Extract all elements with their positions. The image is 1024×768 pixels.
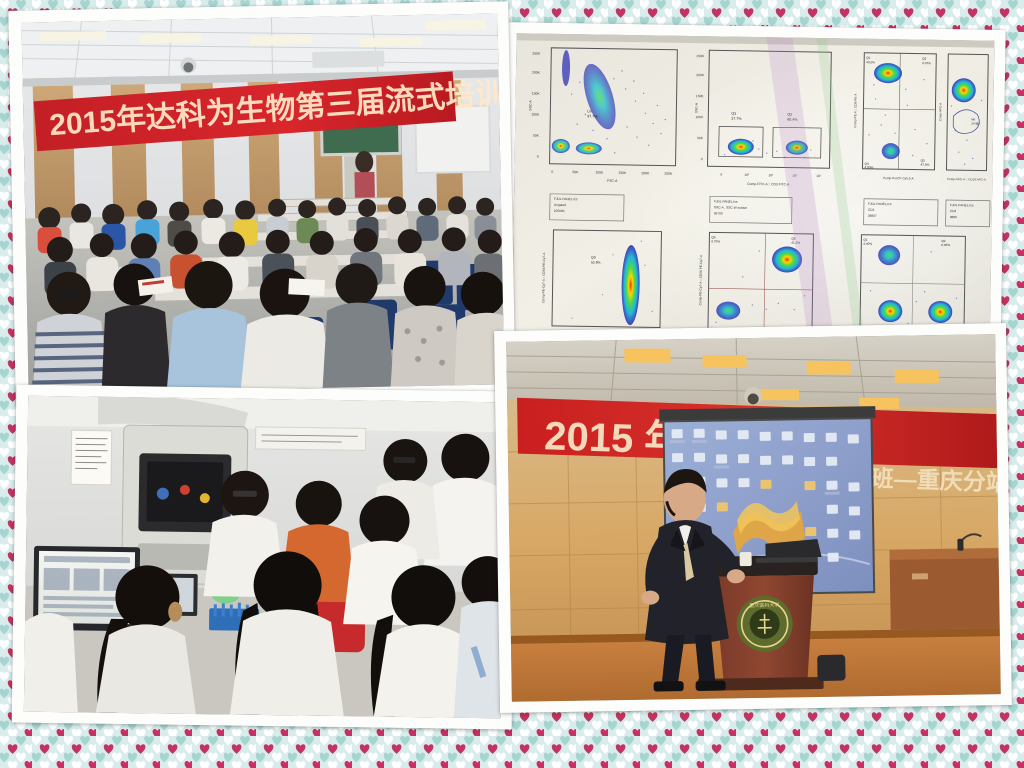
svg-text:50K: 50K [533, 134, 540, 138]
svg-text:150K: 150K [696, 94, 705, 98]
svg-text:0: 0 [720, 172, 722, 176]
photo-lecture-hall[interactable]: 2015 年达科为 班—重庆分站 [494, 323, 1012, 713]
lecture-banner-text-right: 班—重庆分站 [870, 465, 1000, 496]
svg-text:4.40%: 4.40% [863, 242, 872, 246]
svg-text:Comp-APC-A: Comp-APC-A [938, 103, 942, 121]
svg-text:150K: 150K [532, 92, 541, 96]
svg-text:47.0%: 47.0% [921, 163, 930, 167]
svg-text:SSC-A: SSC-A [694, 102, 698, 113]
svg-text:150K: 150K [618, 171, 627, 175]
svg-text:FJDL PANEL.fcs: FJDL PANEL.fcs [714, 199, 738, 203]
svg-text:Lin: Lin [587, 109, 592, 113]
svg-text:100K: 100K [696, 115, 705, 119]
svg-text:200K: 200K [641, 171, 650, 175]
photo-classroom-image: 2015年达科为生物第三届流式培训班——上海分站 [21, 13, 504, 393]
svg-text:FJDL PANEL.fcs: FJDL PANEL.fcs [868, 202, 892, 206]
photo-lecture-hall-image: 2015 年达科为 班—重庆分站 [506, 334, 1001, 702]
svg-text:50K: 50K [697, 136, 704, 140]
svg-text:Comp-PE-A :: CD8 PE-A: Comp-PE-A :: CD8 PE-A [853, 93, 858, 128]
photo-flow-cytometry-image: 0 50K 100K 150K 200K 250K 050K100K 150K2… [511, 33, 994, 365]
svg-text:FJDL PANEL.fcs: FJDL PANEL.fcs [554, 197, 578, 201]
svg-text:FJDL PANEL.fcs: FJDL PANEL.fcs [950, 203, 974, 207]
svg-text:Q1: Q1 [866, 56, 870, 60]
svg-text:Comp-FITC-A :: CD3 FITC-A: Comp-FITC-A :: CD3 FITC-A [747, 182, 790, 187]
svg-text:SSC-A , SSC-W subset: SSC-A , SSC-W subset [714, 205, 747, 210]
svg-text:0.05%: 0.05% [941, 243, 950, 247]
svg-text:SSC-A: SSC-A [528, 100, 532, 111]
svg-text:4.00%: 4.00% [864, 165, 873, 169]
svg-text:50K: 50K [572, 170, 579, 174]
photo-lab-session[interactable] [12, 385, 517, 730]
svg-text:52.8%: 52.8% [591, 260, 601, 264]
svg-text:0: 0 [551, 170, 553, 174]
svg-text:Q2: Q2 [922, 57, 926, 61]
svg-text:100K: 100K [531, 113, 540, 117]
svg-text:14.9%: 14.9% [971, 121, 980, 125]
svg-text:Ungated: Ungated [554, 203, 566, 207]
svg-text:0.07%: 0.07% [922, 61, 931, 65]
svg-text:100000: 100000 [554, 209, 565, 213]
svg-text:43.0%: 43.0% [866, 60, 875, 64]
svg-text:9880: 9880 [950, 215, 957, 219]
svg-text:250K: 250K [697, 54, 706, 58]
svg-text:重庆医科大学: 重庆医科大学 [749, 602, 779, 609]
svg-text:200K: 200K [532, 71, 541, 75]
svg-text:Comp-APC-A :: CD19 APC-A: Comp-APC-A :: CD19 APC-A [947, 177, 986, 182]
svg-text:Q3: Q3 [731, 112, 736, 116]
svg-text:Comp-PerCP-Cy5.5-A: Comp-PerCP-Cy5.5-A [883, 176, 915, 180]
svg-text:250K: 250K [532, 52, 541, 56]
svg-text:0: 0 [701, 157, 703, 161]
svg-text:28807: 28807 [868, 214, 877, 218]
svg-text:10⁵: 10⁵ [816, 174, 822, 178]
svg-text:200K: 200K [696, 73, 705, 77]
svg-text:Comp-PE-Cy7-A :: CD56 PE-Cy7-A: Comp-PE-Cy7-A :: CD56 PE-Cy7-A [541, 252, 546, 303]
svg-text:37.7%: 37.7% [731, 117, 742, 121]
svg-text:100K: 100K [595, 171, 604, 175]
svg-text:0: 0 [537, 155, 539, 159]
svg-text:CD3: CD3 [868, 208, 875, 212]
svg-text:Comp-PE-Cy7-A :: CD56 PE-Cy7-A: Comp-PE-Cy7-A :: CD56 PE-Cy7-A [698, 254, 703, 305]
svg-text:97.7%: 97.7% [587, 114, 598, 118]
photo-lab-session-image [24, 396, 505, 719]
svg-text:0.70%: 0.70% [711, 239, 720, 243]
svg-text:FSC-A: FSC-A [607, 179, 618, 183]
svg-text:250K: 250K [664, 172, 673, 176]
svg-text:36700: 36700 [714, 211, 723, 215]
svg-text:CD3: CD3 [950, 209, 957, 213]
photo-classroom[interactable]: 2015年达科为生物第三届流式培训班——上海分站 [8, 1, 515, 405]
svg-text:Q9: Q9 [591, 255, 596, 259]
